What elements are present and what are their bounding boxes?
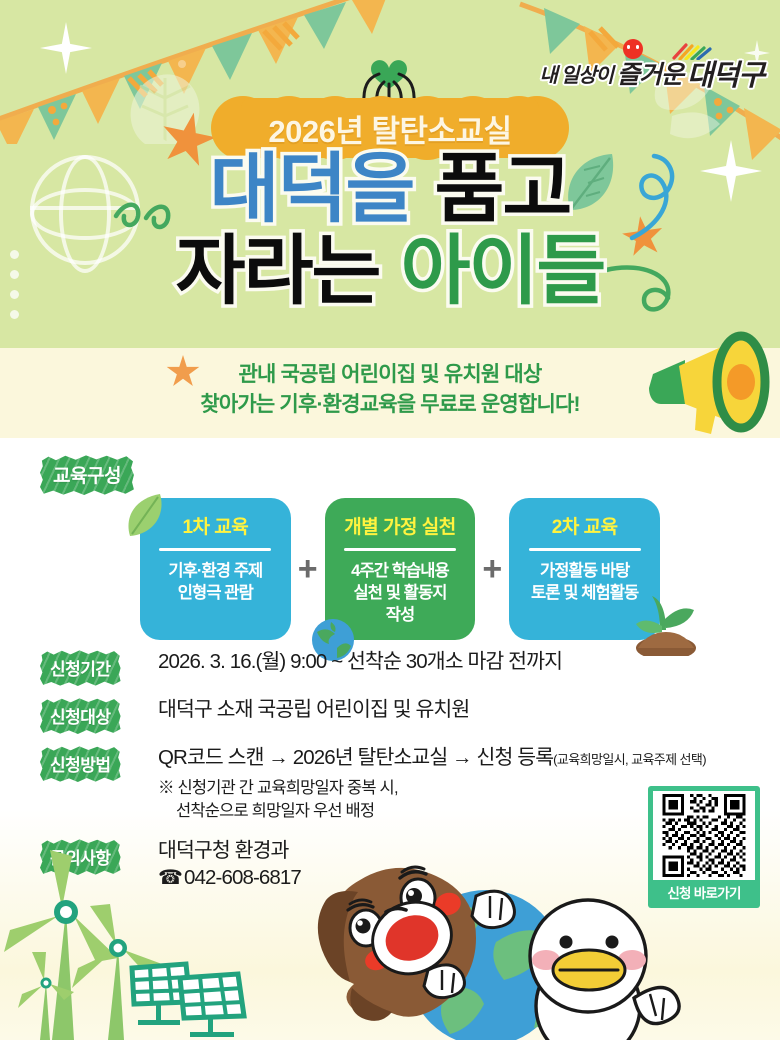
info-note-method: ※ 신청기관 간 교육희망일자 중복 시, 선착순으로 희망일자 우선 배정 xyxy=(158,777,706,823)
district-logo: 내 일상이 즐거운 대덕구 xyxy=(536,42,764,104)
sprout-icon xyxy=(618,590,696,656)
headline-line-2: 자라는 아이들 xyxy=(0,234,780,310)
program-section-label-wrap: 교육구성 xyxy=(40,455,134,495)
badge-application-target: 신청대상 xyxy=(40,698,121,734)
program-card-1: 1차 교육 기후·환경 주제 인형극 관람 xyxy=(140,498,291,640)
info-row-period: 신청기간 2026. 3. 16.(월) 9:00 ~ 선착순 30개소 마감 … xyxy=(40,648,740,686)
badge-application-target-label: 신청대상 xyxy=(50,703,111,728)
renewable-energy-decoration xyxy=(0,840,290,1040)
info-value-period: 2026. 3. 16.(월) 9:00 ~ 선착순 30개소 마감 전까지 xyxy=(148,648,562,675)
program-card-2: 개별 가정 실천 4주간 학습내용 실천 및 활동지 작성 xyxy=(325,498,476,640)
program-card-2-body-line1: 4주간 학습내용 xyxy=(351,561,449,583)
program-card-1-title: 1차 교육 xyxy=(182,512,248,539)
logo-text-part1: 내 일상이 xyxy=(539,59,613,88)
program-card-3: 2차 교육 가정활동 바탕 토론 및 체험활동 xyxy=(509,498,660,640)
megaphone-icon xyxy=(645,330,777,436)
info-value-target: 대덕구 소재 국공립 어린이집 및 유치원 xyxy=(148,696,469,723)
headline-word-aideul: 아이들 xyxy=(401,234,605,310)
program-card-3-title: 2차 교육 xyxy=(552,512,618,539)
info-row-method: 신청방법 QR코드 스캔 → 2026년 탈탄소교실 → 신청 등록(교육희망일… xyxy=(40,744,740,823)
info-badge-col: 신청방법 xyxy=(40,744,148,782)
rainbow-icon xyxy=(672,42,724,60)
badge-application-method: 신청방법 xyxy=(40,746,121,782)
program-card-2-body-line2: 실천 및 활동지 xyxy=(351,583,449,605)
headline-word-pumgo: 품고 xyxy=(435,152,571,228)
program-cards: 1차 교육 기후·환경 주제 인형극 관람 + 개별 가정 실천 4주간 학습내… xyxy=(140,498,660,640)
wind-turbine-icon xyxy=(4,850,118,1040)
badge-program-composition-label: 교육구성 xyxy=(53,461,121,488)
solar-panel-icon xyxy=(132,964,244,1037)
info-note-line-2: 선착순으로 희망일자 우선 배정 xyxy=(158,800,706,823)
program-card-2-body-line3: 작성 xyxy=(351,605,449,627)
info-row-target: 신청대상 대덕구 소재 국공립 어린이집 및 유치원 xyxy=(40,696,740,734)
program-card-3-body-line1: 가정활동 바탕 xyxy=(531,561,638,583)
program-card-1-body-line2: 인형극 관람 xyxy=(168,583,262,605)
program-card-1-body-line1: 기후·환경 주제 xyxy=(168,561,262,583)
leaf-icon xyxy=(124,492,164,538)
card-divider xyxy=(344,548,456,551)
logo-text-part2: 즐거운 xyxy=(617,55,683,91)
program-card-2-body: 4주간 학습내용 실천 및 활동지 작성 xyxy=(351,561,449,626)
logo-text-part2-label: 즐거운 xyxy=(617,62,683,89)
badge-application-method-label: 신청방법 xyxy=(50,751,111,776)
program-card-2-title: 개별 가정 실천 xyxy=(344,512,455,539)
info-note-line-1: ※ 신청기관 간 교육희망일자 중복 시, xyxy=(158,779,398,797)
page-title: 대덕을 품고 자라는 아이들 xyxy=(0,152,780,310)
badge-application-period-label: 신청기간 xyxy=(50,655,111,680)
info-badge-col: 신청대상 xyxy=(40,696,148,734)
poster-root: 내 일상이 즐거운 대덕구 2026년 탈탄소교실 대덕을 품고 xyxy=(0,0,780,1040)
plus-separator-2: + xyxy=(475,552,509,586)
headline-line-1: 대덕을 품고 xyxy=(0,152,780,228)
duck-character xyxy=(530,900,679,1040)
headline-word-jaraneun: 자라는 xyxy=(176,234,380,310)
program-card-1-body: 기후·환경 주제 인형극 관람 xyxy=(168,561,262,605)
info-value-method-detail: (교육희망일시, 교육주제 선택) xyxy=(553,752,706,767)
info-value-method-main: QR코드 스캔 → 2026년 탈탄소교실 → 신청 등록 xyxy=(158,746,553,769)
character-illustration xyxy=(290,838,690,1040)
headline-word-daedeokeul: 대덕을 xyxy=(210,152,414,228)
plus-separator-1: + xyxy=(291,552,325,586)
info-badge-col: 신청기간 xyxy=(40,648,148,686)
card-divider xyxy=(529,548,641,551)
card-divider xyxy=(159,548,271,551)
badge-application-period: 신청기간 xyxy=(40,650,121,686)
badge-program-composition: 교육구성 xyxy=(40,455,134,495)
info-value-method: QR코드 스캔 → 2026년 탈탄소교실 → 신청 등록(교육희망일시, 교육… xyxy=(148,744,706,823)
smiley-icon xyxy=(623,39,643,59)
